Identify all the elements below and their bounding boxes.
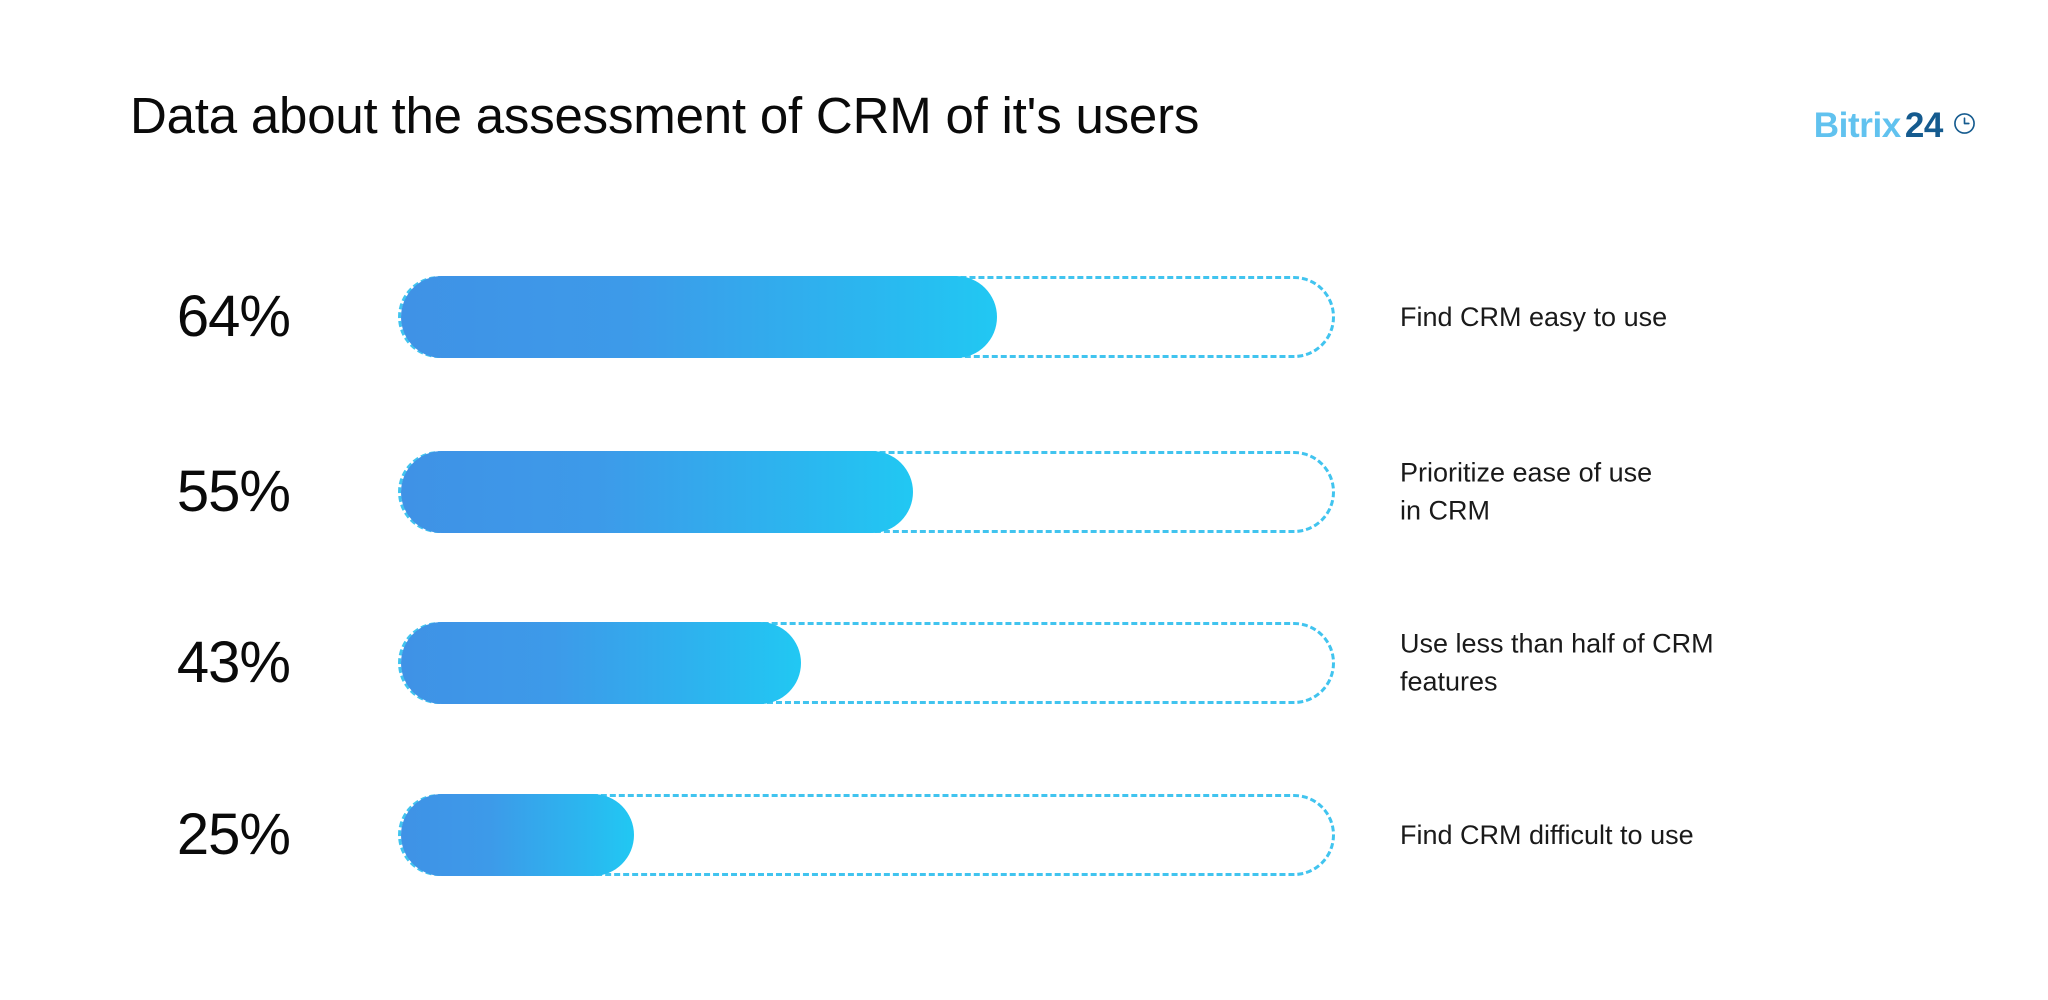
row-bar-fill	[401, 794, 634, 876]
row-bar-fill	[401, 276, 997, 358]
clock-icon	[1953, 112, 1976, 139]
row-percent-value: 25%	[0, 806, 290, 864]
row-label: Prioritize ease of use in CRM	[1400, 454, 2000, 531]
row-percent-value: 43%	[0, 634, 290, 692]
row-percent-value: 55%	[0, 463, 290, 521]
brand-name-dark: 24	[1905, 108, 1943, 143]
chart-row: 25% Find CRM difficult to use	[0, 780, 2048, 890]
page-title: Data about the assessment of CRM of it's…	[130, 90, 1199, 141]
row-label: Find CRM difficult to use	[1400, 816, 2000, 854]
chart-row: 55% Prioritize ease of use in CRM	[0, 437, 2048, 547]
row-track	[398, 622, 1335, 704]
chart-row: 43% Use less than half of CRM features	[0, 608, 2048, 718]
row-track	[398, 276, 1335, 358]
row-bar-fill	[401, 451, 913, 533]
row-percent-value: 64%	[0, 288, 290, 346]
infographic-page: Data about the assessment of CRM of it's…	[0, 0, 2048, 1000]
bitrix24-logo: Bitrix 24	[1814, 108, 1976, 143]
row-label: Find CRM easy to use	[1400, 298, 2000, 336]
row-label: Use less than half of CRM features	[1400, 625, 2000, 702]
row-track	[398, 451, 1335, 533]
header: Data about the assessment of CRM of it's…	[0, 0, 2048, 190]
row-bar-fill	[401, 622, 801, 704]
row-track	[398, 794, 1335, 876]
brand-name-light: Bitrix	[1814, 108, 1901, 143]
chart-row: 64% Find CRM easy to use	[0, 262, 2048, 372]
